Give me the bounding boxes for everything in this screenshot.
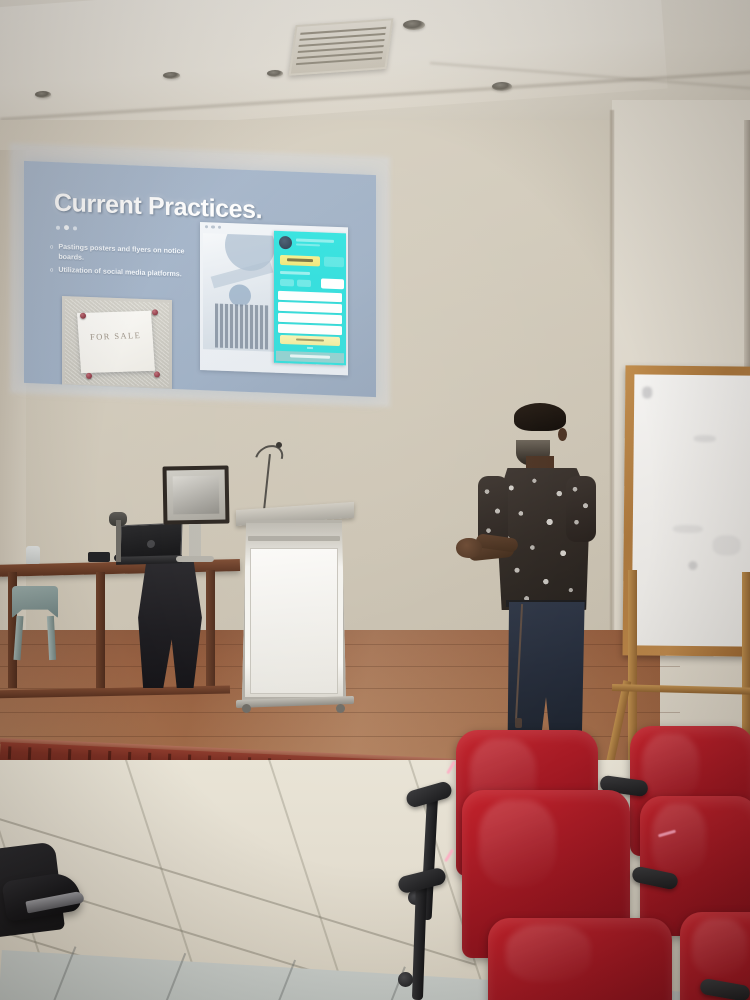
lectern-caster	[336, 704, 345, 713]
standing-presenter	[470, 406, 620, 766]
projected-slide: Current Practices. o Pastings posters an…	[24, 161, 376, 397]
presenter-sleeve	[566, 476, 596, 542]
monitor-stand	[189, 524, 201, 558]
lecture-hall-photo: Current Practices. o Pastings posters an…	[0, 0, 750, 1000]
water-bottle	[26, 546, 40, 564]
list-item: o Pastings posters and flyers on notice …	[50, 242, 190, 266]
presenter-hair	[514, 403, 566, 431]
downlight-icon	[267, 70, 283, 77]
microphone-capsule-icon	[276, 442, 282, 448]
downlight-icon	[163, 72, 180, 79]
lectern-front-panel	[250, 548, 338, 694]
form-field	[278, 291, 342, 302]
plastic-chair	[8, 586, 62, 656]
pushpin-icon	[86, 373, 92, 379]
computer-monitor	[162, 465, 229, 524]
microphone-stand	[116, 520, 121, 562]
lanyard-tag	[515, 718, 522, 728]
desk-clutter	[88, 552, 110, 562]
seat-hinge	[398, 972, 413, 987]
bullet-text: Utilization of social media platforms.	[58, 266, 181, 282]
slide-title: Current Practices.	[54, 189, 262, 226]
table-leg	[96, 572, 105, 690]
presenter-hand	[456, 538, 482, 558]
bullet-text: Pastings posters and flyers on notice bo…	[58, 243, 190, 267]
whiteboard-on-easel	[622, 365, 750, 656]
form-field	[278, 313, 342, 324]
laptop-logo-icon	[147, 540, 155, 548]
bullet-marker-icon: o	[50, 266, 53, 277]
monitor-foot	[176, 556, 214, 562]
auditorium-seat[interactable]	[488, 918, 672, 1000]
downlight-icon	[35, 91, 51, 98]
lectern-slot	[248, 536, 340, 541]
lectern-caster	[242, 704, 251, 713]
pushpin-icon	[80, 313, 86, 319]
pushpin-icon	[152, 309, 158, 315]
for-sale-poster-image: FOR SALE	[62, 296, 172, 390]
ac-vent-icon	[289, 18, 394, 75]
avatar	[279, 236, 292, 249]
slide-decorative-dots	[56, 225, 77, 231]
bullet-marker-icon: o	[50, 242, 53, 261]
table-leg	[206, 570, 215, 690]
slide-bullet-list: o Pastings posters and flyers on notice …	[50, 242, 190, 285]
form-field	[278, 302, 342, 313]
submit-button	[280, 335, 340, 346]
whiteboard-face	[632, 374, 750, 646]
price-chip	[321, 278, 344, 289]
downlight-icon	[403, 20, 425, 30]
primary-action-button	[280, 255, 320, 266]
presenter-ear	[558, 428, 567, 441]
for-sale-text: FOR SALE	[86, 330, 145, 342]
form-field	[278, 324, 342, 335]
pushpin-icon	[154, 371, 160, 377]
app-footer-bar	[276, 351, 344, 363]
app-screenshot-panel	[200, 222, 348, 375]
marketplace-app-mockup	[274, 231, 346, 366]
secondary-action-button	[324, 257, 344, 268]
podium-lectern	[236, 506, 354, 714]
notice-sheet: FOR SALE	[77, 311, 155, 373]
laptop-base	[116, 555, 182, 565]
listing-photo	[203, 233, 281, 352]
list-item: o Utilization of social media platforms.	[50, 266, 190, 282]
window-dots-icon	[205, 225, 221, 229]
